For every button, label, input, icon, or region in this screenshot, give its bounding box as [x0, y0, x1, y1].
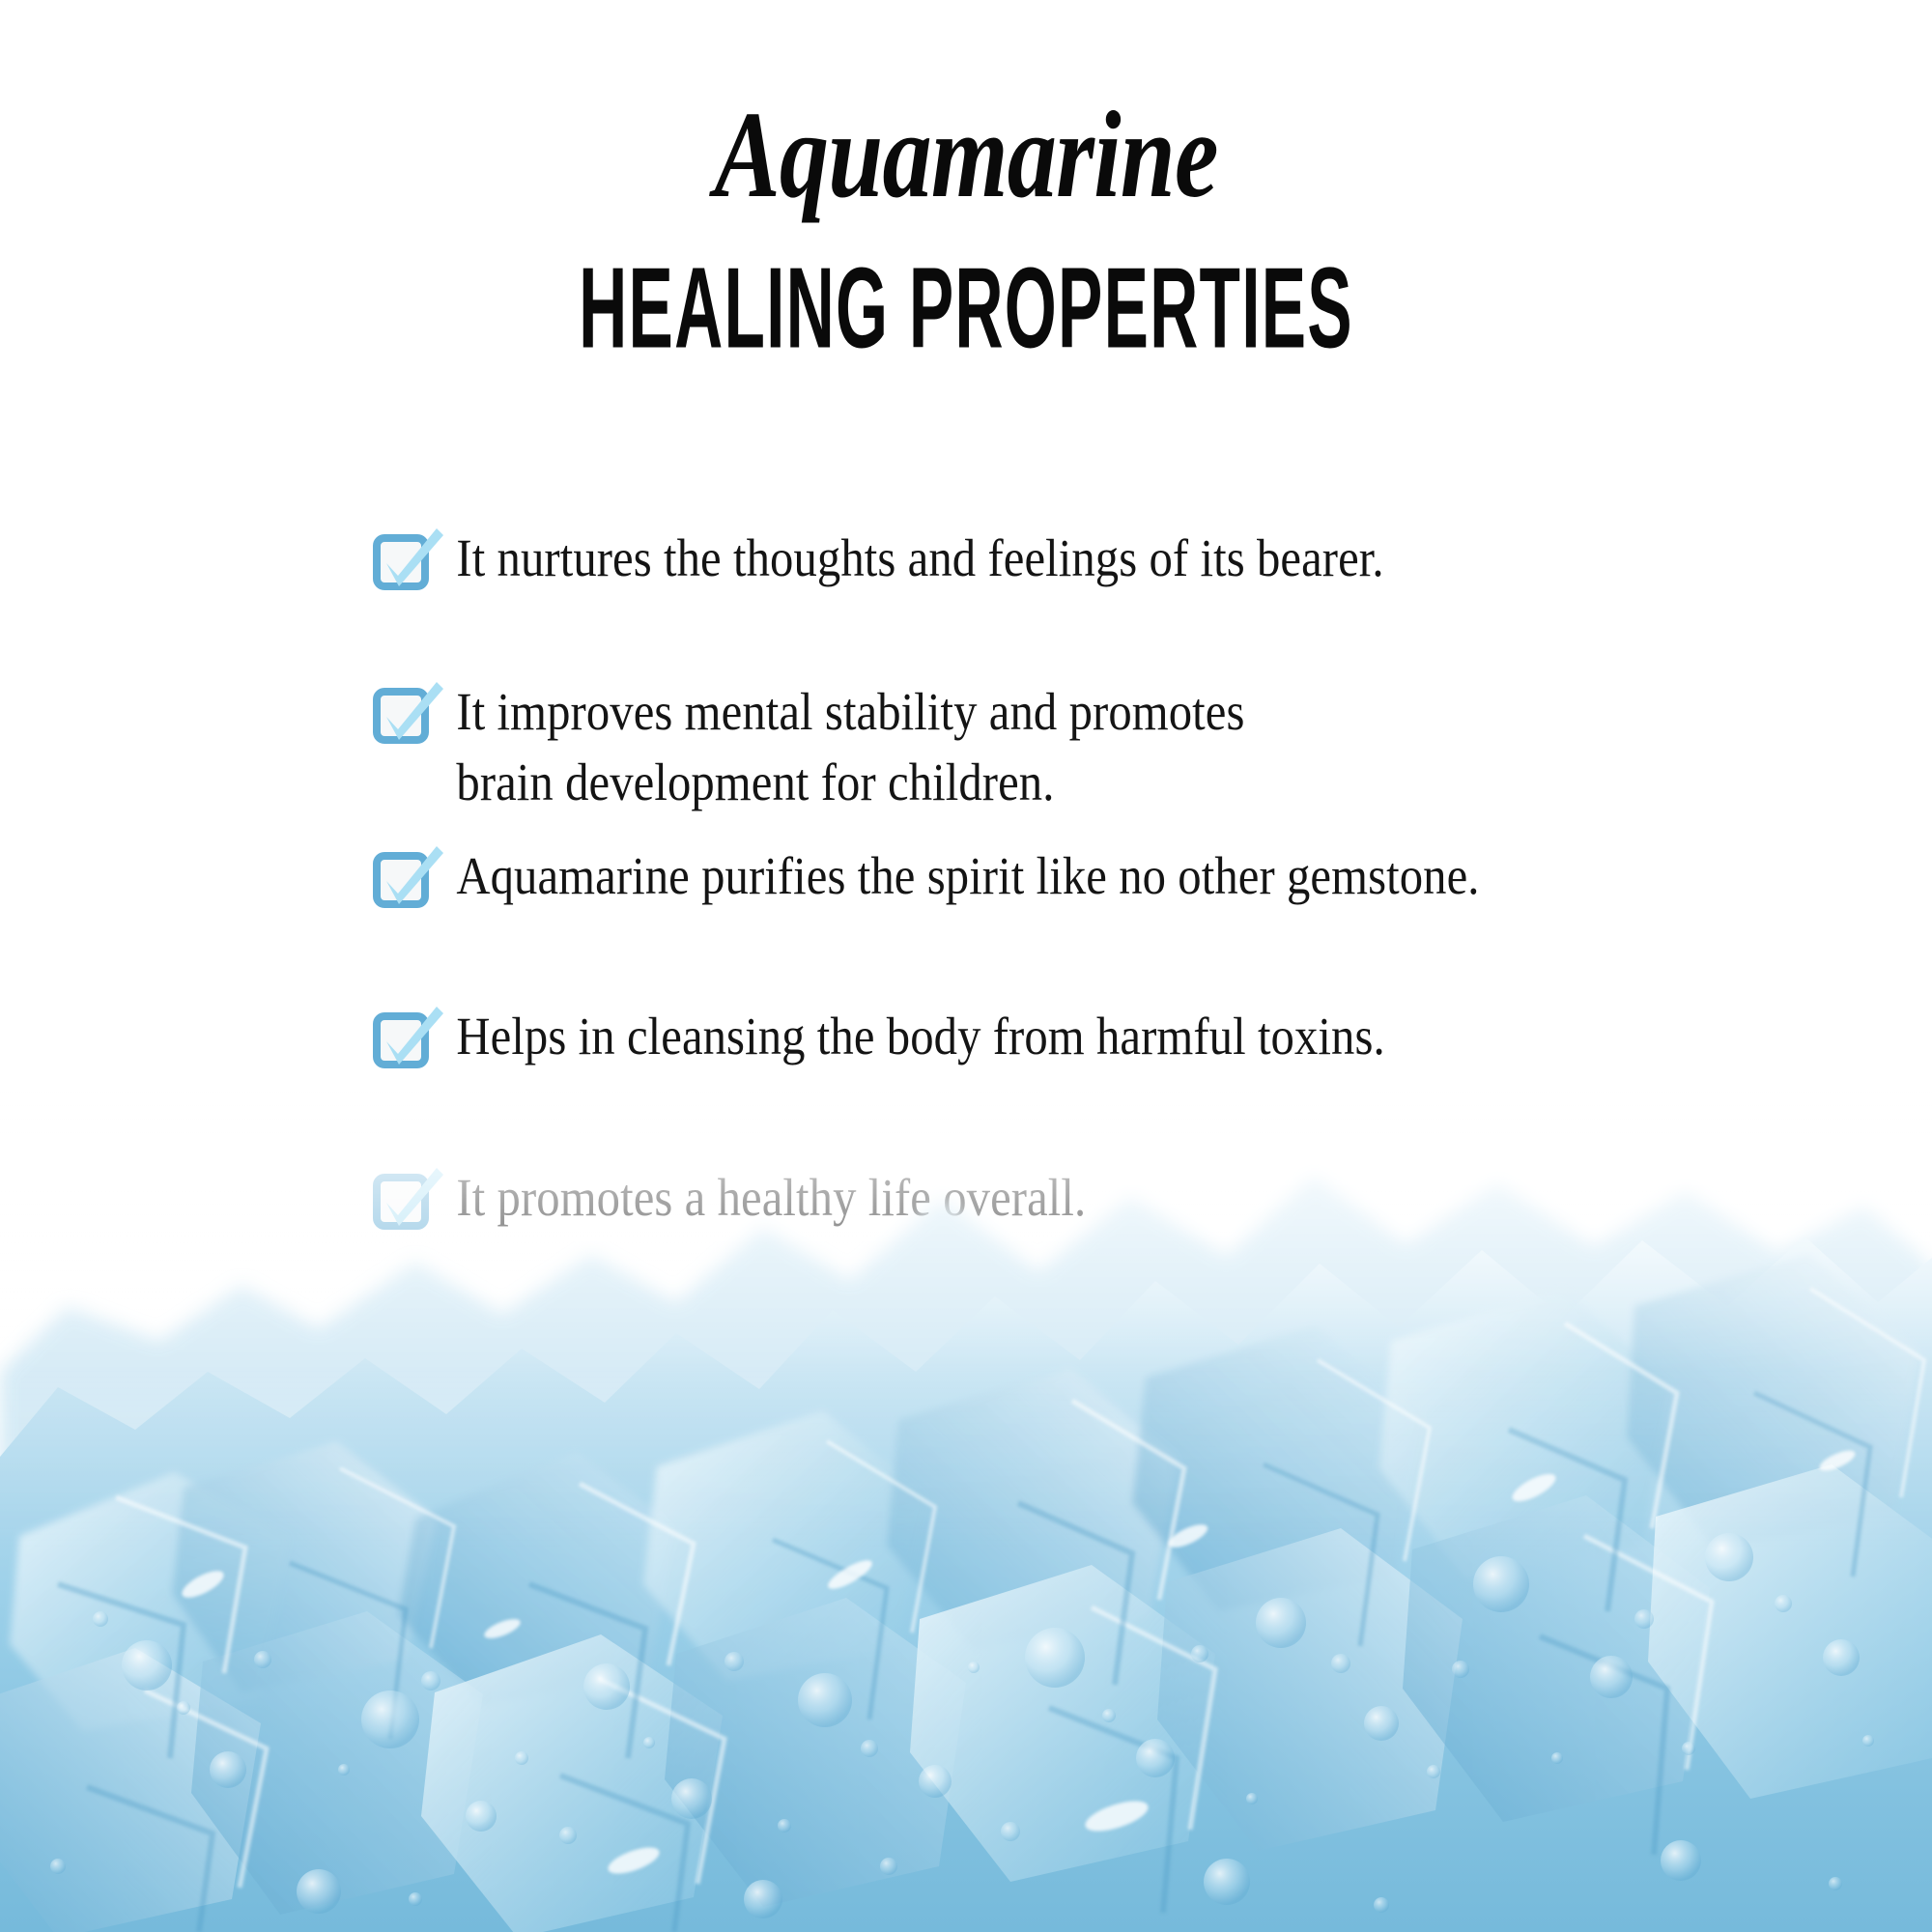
list-item-text: It improves mental stability and promote…	[444, 676, 1663, 817]
checked-checkbox-icon	[373, 682, 444, 746]
checked-checkbox-icon	[373, 1007, 444, 1070]
list-item-text: Helps in cleansing the body from harmful…	[444, 1001, 1663, 1071]
poster-canvas: Aquamarine HEALING PROPERTIES It nurture…	[0, 0, 1932, 1932]
page-subtitle: HEALING PROPERTIES	[367, 251, 1565, 366]
list-item: It improves mental stability and promote…	[373, 676, 1822, 817]
ice-cubes-photo	[0, 1082, 1932, 1932]
list-item: Helps in cleansing the body from harmful…	[373, 1001, 1822, 1071]
list-item: Aquamarine purifies the spirit like no o…	[373, 840, 1822, 911]
header: Aquamarine HEALING PROPERTIES	[0, 93, 1932, 359]
list-item: It nurtures the thoughts and feelings of…	[373, 523, 1822, 593]
page-title: Aquamarine	[193, 93, 1739, 216]
list-item-text: It nurtures the thoughts and feelings of…	[444, 523, 1663, 593]
checked-checkbox-icon	[373, 846, 444, 910]
list-item-text: Aquamarine purifies the spirit like no o…	[444, 840, 1663, 911]
checked-checkbox-icon	[373, 528, 444, 592]
